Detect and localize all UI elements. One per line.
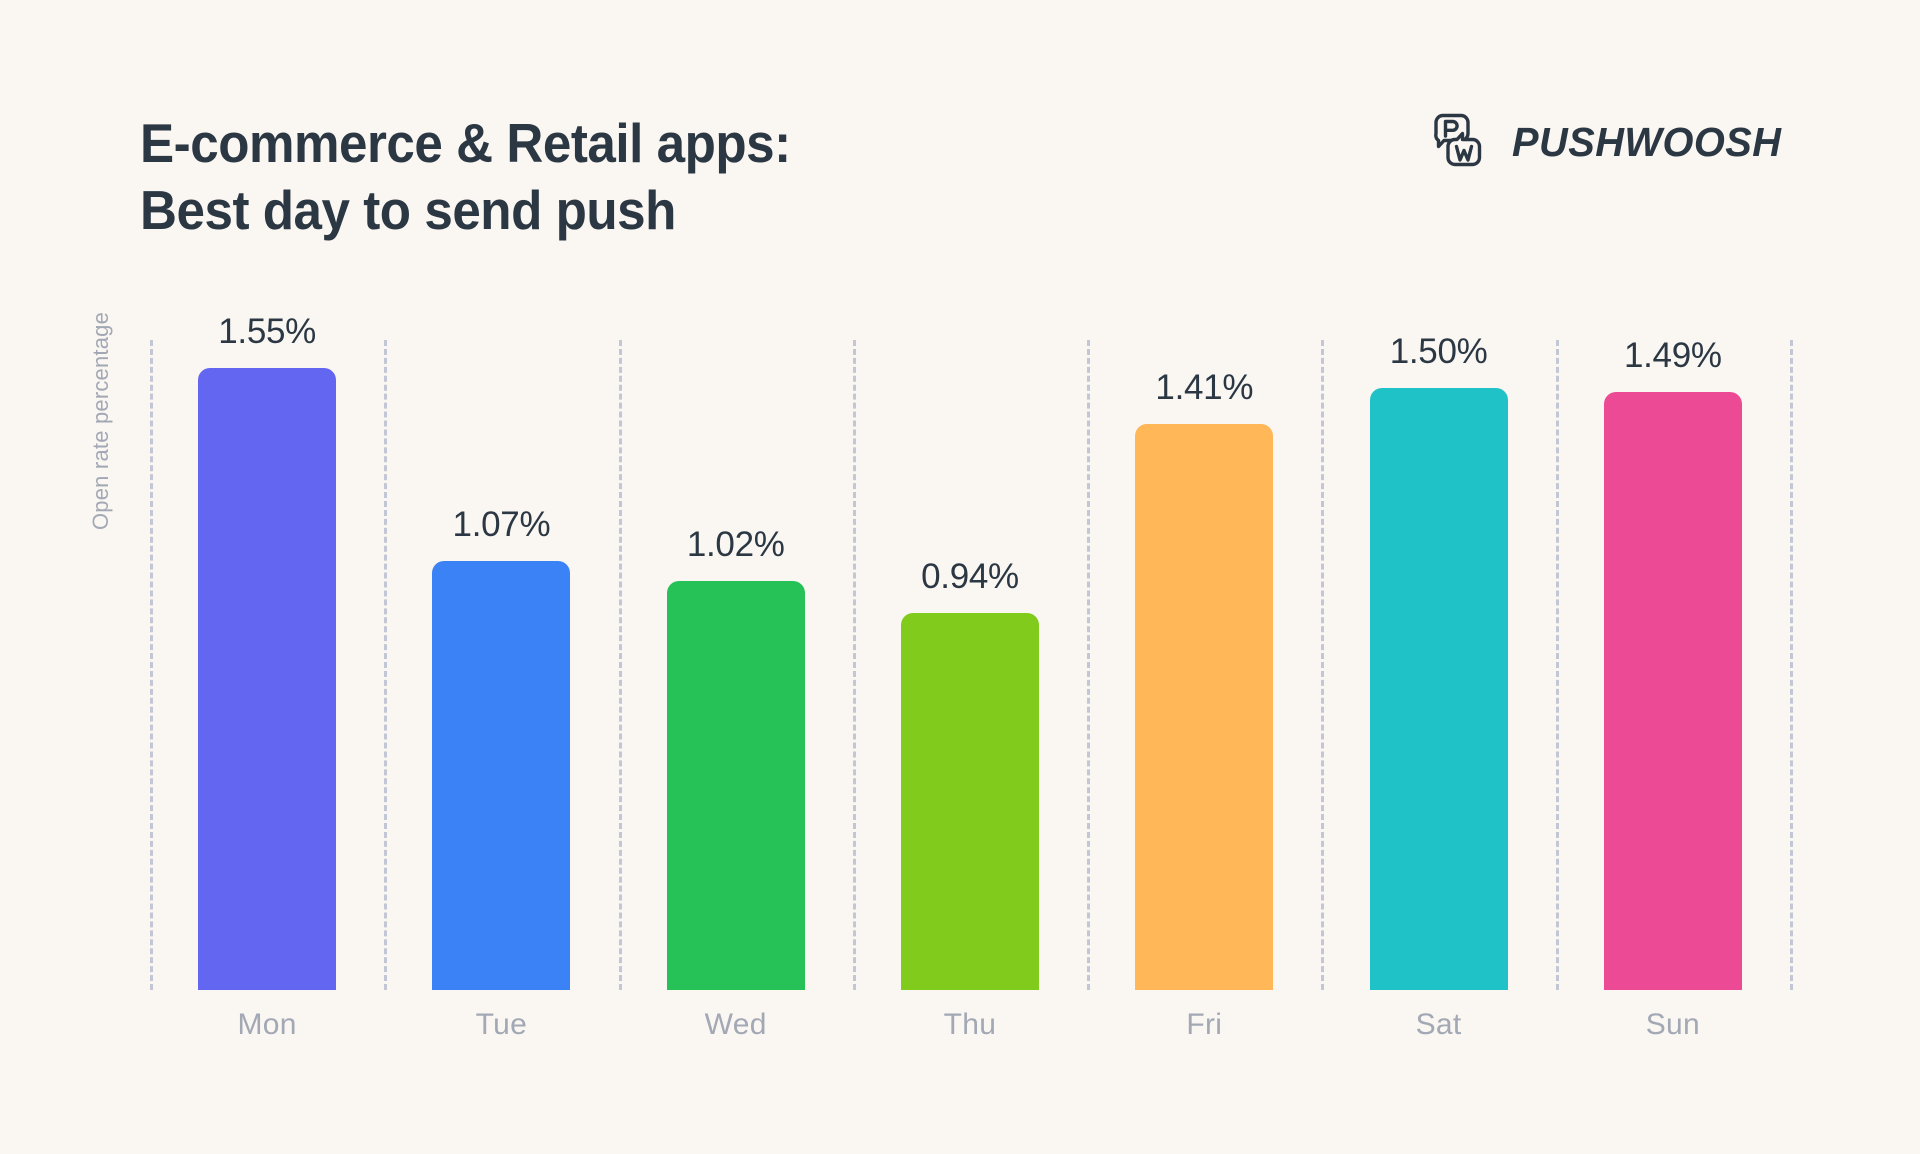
bar-chart: Open rate percentage 1.55%1.07%1.02%0.94…: [0, 0, 1920, 1154]
bar-value-label: 1.02%: [667, 525, 805, 565]
bar-column: 1.07%: [432, 340, 570, 990]
bar-mon: [198, 368, 336, 990]
plot-area: 1.55%1.07%1.02%0.94%1.41%1.50%1.49%: [150, 340, 1790, 990]
bar-column: 1.50%: [1370, 340, 1508, 990]
bar-sat: [1370, 388, 1508, 990]
bar-column: 1.02%: [667, 340, 805, 990]
bar-sun: [1604, 392, 1742, 990]
bar-tue: [432, 561, 570, 990]
bar-column: 1.55%: [198, 340, 336, 990]
x-axis-tick-sat: Sat: [1321, 1008, 1555, 1042]
bar-column: 1.41%: [1135, 340, 1273, 990]
bar-value-label: 1.50%: [1370, 332, 1508, 372]
bar-value-label: 1.41%: [1135, 368, 1273, 408]
gridline: [1790, 340, 1793, 990]
x-axis-tick-thu: Thu: [853, 1008, 1087, 1042]
bar-value-label: 1.55%: [198, 312, 336, 352]
x-axis-tick-wed: Wed: [619, 1008, 853, 1042]
bar-value-label: 1.49%: [1604, 336, 1742, 376]
x-axis-tick-sun: Sun: [1556, 1008, 1790, 1042]
x-axis-tick-fri: Fri: [1087, 1008, 1321, 1042]
gridline: [1087, 340, 1090, 990]
gridline: [150, 340, 153, 990]
gridline: [853, 340, 856, 990]
x-axis-tick-tue: Tue: [384, 1008, 618, 1042]
gridline: [1321, 340, 1324, 990]
gridline: [1556, 340, 1559, 990]
gridline: [384, 340, 387, 990]
bar-wed: [667, 581, 805, 990]
bar-column: 1.49%: [1604, 340, 1742, 990]
bar-value-label: 1.07%: [432, 505, 570, 545]
bar-value-label: 0.94%: [901, 557, 1039, 597]
bar-thu: [901, 613, 1039, 990]
x-axis-tick-mon: Mon: [150, 1008, 384, 1042]
bar-column: 0.94%: [901, 340, 1039, 990]
y-axis-label: Open rate percentage: [88, 170, 114, 530]
gridline: [619, 340, 622, 990]
bar-fri: [1135, 424, 1273, 990]
